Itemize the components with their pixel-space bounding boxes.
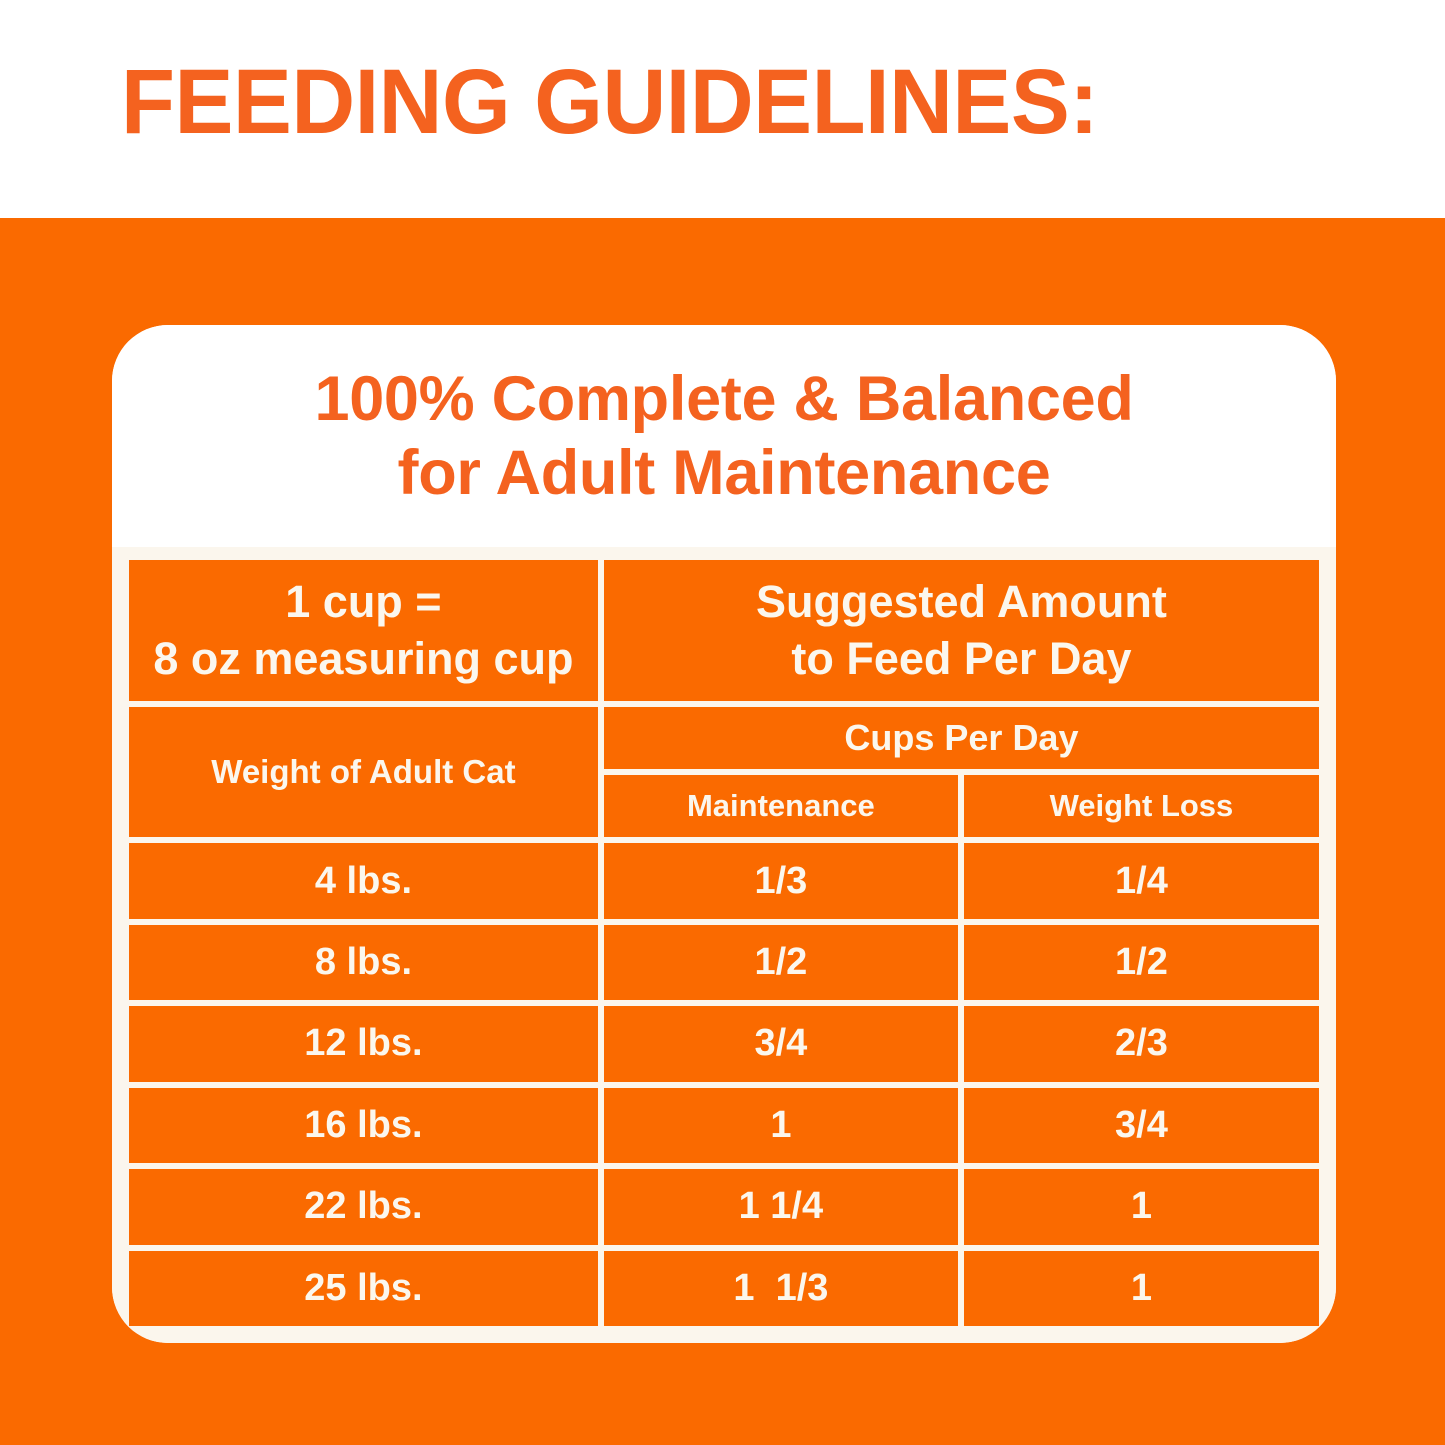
card-heading-line-1: 100% Complete & Balanced bbox=[314, 362, 1133, 436]
feeding-table: 1 cup = 8 oz measuring cup Suggested Amo… bbox=[123, 554, 1325, 1332]
suggested-amount-line-2: to Feed Per Day bbox=[604, 630, 1319, 688]
cell-weight-loss: 1/4 bbox=[964, 843, 1319, 918]
cell-weight-loss: 1/2 bbox=[964, 925, 1319, 1000]
feeding-table-wrapper: 1 cup = 8 oz measuring cup Suggested Amo… bbox=[112, 547, 1336, 1343]
maintenance-header: Maintenance bbox=[604, 775, 958, 837]
cell-weight: 22 lbs. bbox=[129, 1169, 598, 1244]
cell-maintenance: 1 bbox=[604, 1088, 958, 1163]
table-row: 8 lbs. 1/2 1/2 bbox=[129, 925, 1319, 1000]
cell-weight: 25 lbs. bbox=[129, 1251, 598, 1327]
cell-weight-loss: 3/4 bbox=[964, 1088, 1319, 1163]
table-row: 4 lbs. 1/3 1/4 bbox=[129, 843, 1319, 918]
title-band: FEEDING GUIDELINES: bbox=[0, 0, 1445, 218]
card-heading-line-2: for Adult Maintenance bbox=[398, 436, 1051, 510]
table-row-subheader-top: Weight of Adult Cat Cups Per Day bbox=[129, 707, 1319, 769]
cup-definition-cell: 1 cup = 8 oz measuring cup bbox=[129, 560, 598, 701]
cell-weight: 16 lbs. bbox=[129, 1088, 598, 1163]
feeding-guidelines-panel: FEEDING GUIDELINES: 100% Complete & Bala… bbox=[0, 0, 1445, 1445]
weight-loss-header: Weight Loss bbox=[964, 775, 1319, 837]
page-title: FEEDING GUIDELINES: bbox=[121, 56, 1098, 148]
cell-maintenance: 1 1/3 bbox=[604, 1251, 958, 1327]
cell-weight: 4 lbs. bbox=[129, 843, 598, 918]
cup-definition-line-1: 1 cup = bbox=[129, 573, 598, 631]
feeding-card: 100% Complete & Balanced for Adult Maint… bbox=[112, 325, 1336, 1343]
table-row: 22 lbs. 1 1/4 1 bbox=[129, 1169, 1319, 1244]
cell-weight: 12 lbs. bbox=[129, 1006, 598, 1081]
suggested-amount-cell: Suggested Amount to Feed Per Day bbox=[604, 560, 1319, 701]
card-heading: 100% Complete & Balanced for Adult Maint… bbox=[112, 325, 1336, 547]
suggested-amount-line-1: Suggested Amount bbox=[604, 573, 1319, 631]
weight-of-adult-cat-header: Weight of Adult Cat bbox=[129, 707, 598, 838]
cell-maintenance: 1/2 bbox=[604, 925, 958, 1000]
cell-maintenance: 3/4 bbox=[604, 1006, 958, 1081]
cell-maintenance: 1 1/4 bbox=[604, 1169, 958, 1244]
table-row: 12 lbs. 3/4 2/3 bbox=[129, 1006, 1319, 1081]
cell-weight-loss: 1 bbox=[964, 1169, 1319, 1244]
cell-weight-loss: 2/3 bbox=[964, 1006, 1319, 1081]
cell-maintenance: 1/3 bbox=[604, 843, 958, 918]
cups-per-day-header: Cups Per Day bbox=[604, 707, 1319, 769]
table-row-definition: 1 cup = 8 oz measuring cup Suggested Amo… bbox=[129, 560, 1319, 701]
cup-definition-line-2: 8 oz measuring cup bbox=[129, 630, 598, 688]
cell-weight-loss: 1 bbox=[964, 1251, 1319, 1327]
table-row: 25 lbs. 1 1/3 1 bbox=[129, 1251, 1319, 1327]
table-row: 16 lbs. 1 3/4 bbox=[129, 1088, 1319, 1163]
cell-weight: 8 lbs. bbox=[129, 925, 598, 1000]
